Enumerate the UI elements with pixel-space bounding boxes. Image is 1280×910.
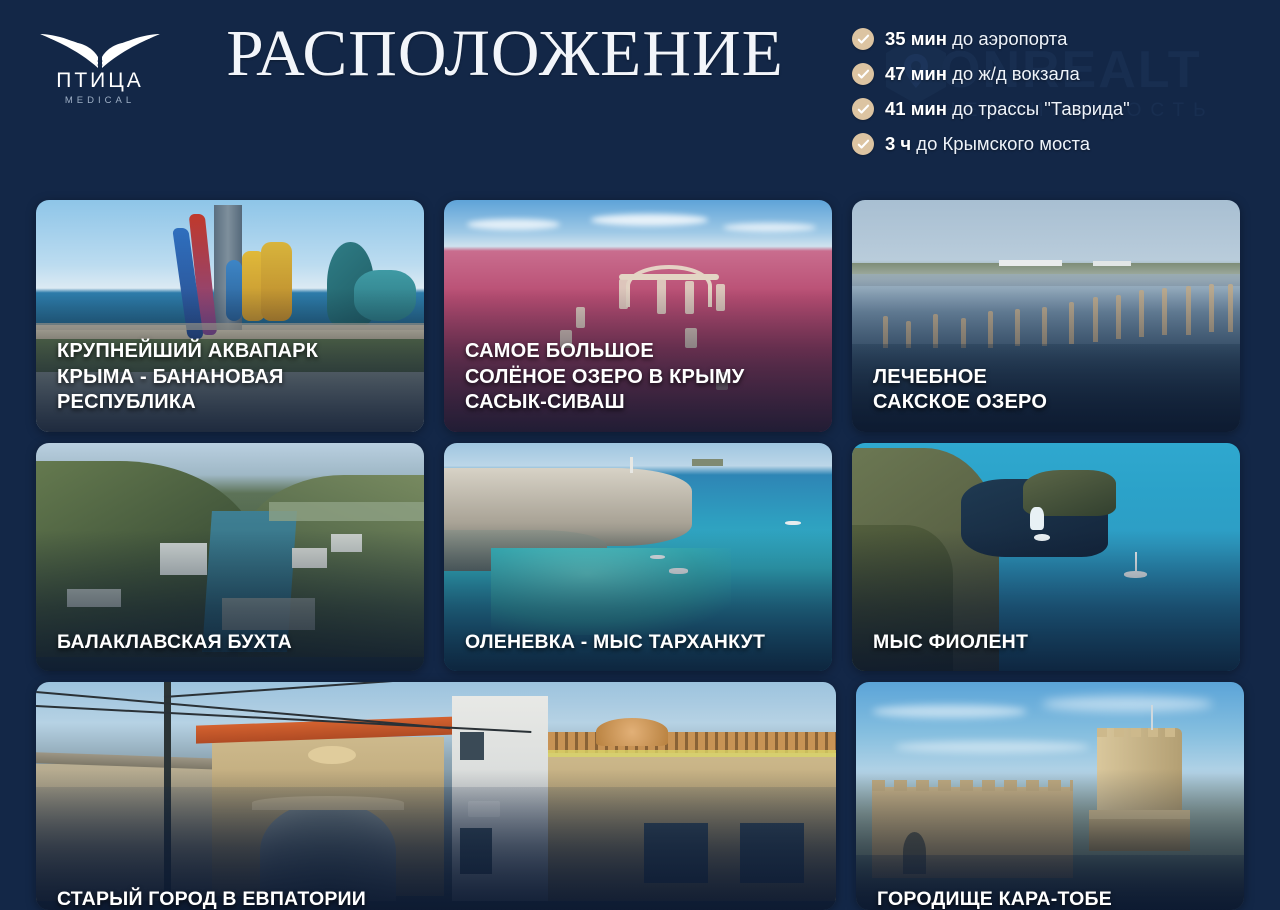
card-caption: СТАРЫЙ ГОРОД В ЕВПАТОРИИ (57, 887, 820, 910)
check-circle-icon (852, 133, 874, 155)
travel-times-list: 35 мин до аэропорта 47 мин до ж/д вокзал… (852, 28, 1130, 155)
card-caption: ОЛЕНЕВКА - МЫС ТАРХАНКУТ (465, 630, 816, 655)
check-circle-icon (852, 63, 874, 85)
list-item-text: 47 мин до ж/д вокзала (885, 63, 1080, 85)
list-item: 35 мин до аэропорта (852, 28, 1130, 50)
attraction-card-saki-lake[interactable]: ЛЕЧЕБНОЕ САКСКОЕ ОЗЕРО (852, 200, 1240, 432)
attraction-card-tarhankut[interactable]: ОЛЕНЕВКА - МЫС ТАРХАНКУТ (444, 443, 832, 671)
card-photo (856, 682, 1244, 910)
grid-row: КРУПНЕЙШИЙ АКВАПАРК КРЫМА - БАНАНОВАЯ РЕ… (36, 200, 1244, 432)
list-item-label: до ж/д вокзала (947, 63, 1080, 84)
location-slide: ONREALT НЕДВИЖИМОСТЬ ПТИЦА MEDICAL РАСПО… (0, 0, 1280, 910)
card-caption: БАЛАКЛАВСКАЯ БУХТА (57, 630, 408, 655)
list-item-label: до трассы "Таврида" (947, 98, 1130, 119)
list-item-text: 35 мин до аэропорта (885, 28, 1067, 50)
card-caption: ЛЕЧЕБНОЕ САКСКОЕ ОЗЕРО (873, 365, 1224, 416)
attraction-card-balaklava[interactable]: БАЛАКЛАВСКАЯ БУХТА (36, 443, 424, 671)
brand-subtitle: MEDICAL (65, 95, 135, 106)
check-circle-icon (852, 28, 874, 50)
card-caption: КРУПНЕЙШИЙ АКВАПАРК КРЫМА - БАНАНОВАЯ РЕ… (57, 339, 408, 416)
grid-row: БАЛАКЛАВСКАЯ БУХТА ОЛЕНЕВКА - МЫС ТАРХАН… (36, 443, 1244, 671)
list-item-text: 41 мин до трассы "Таврида" (885, 98, 1130, 120)
list-item-value: 3 ч (885, 133, 911, 154)
list-item-value: 35 мин (885, 28, 947, 49)
attraction-card-evpatoria[interactable]: СТАРЫЙ ГОРОД В ЕВПАТОРИИ (36, 682, 836, 910)
list-item-value: 41 мин (885, 98, 947, 119)
list-item-label: до Крымского моста (911, 133, 1090, 154)
card-caption: МЫС ФИОЛЕНТ (873, 630, 1224, 655)
list-item: 3 ч до Крымского моста (852, 133, 1130, 155)
attraction-card-pink-lake[interactable]: САМОЕ БОЛЬШОЕ СОЛЁНОЕ ОЗЕРО В КРЫМУ САСЫ… (444, 200, 832, 432)
check-circle-icon (852, 98, 874, 120)
attraction-card-fiolent[interactable]: МЫС ФИОЛЕНТ (852, 443, 1240, 671)
card-caption: ГОРОДИЩЕ КАРА-ТОБЕ (877, 887, 1228, 910)
card-photo (36, 682, 836, 910)
attractions-grid: КРУПНЕЙШИЙ АКВАПАРК КРЫМА - БАНАНОВАЯ РЕ… (36, 200, 1244, 910)
list-item: 47 мин до ж/д вокзала (852, 63, 1130, 85)
card-caption: САМОЕ БОЛЬШОЕ СОЛЁНОЕ ОЗЕРО В КРЫМУ САСЫ… (465, 339, 816, 416)
list-item-text: 3 ч до Крымского моста (885, 133, 1090, 155)
grid-row: СТАРЫЙ ГОРОД В ЕВПАТОРИИ (36, 682, 1244, 910)
list-item: 41 мин до трассы "Таврида" (852, 98, 1130, 120)
attraction-card-kara-tobe[interactable]: ГОРОДИЩЕ КАРА-ТОБЕ (856, 682, 1244, 910)
attraction-card-aquapark[interactable]: КРУПНЕЙШИЙ АКВАПАРК КРЫМА - БАНАНОВАЯ РЕ… (36, 200, 424, 432)
list-item-label: до аэропорта (947, 28, 1067, 49)
list-item-value: 47 мин (885, 63, 947, 84)
